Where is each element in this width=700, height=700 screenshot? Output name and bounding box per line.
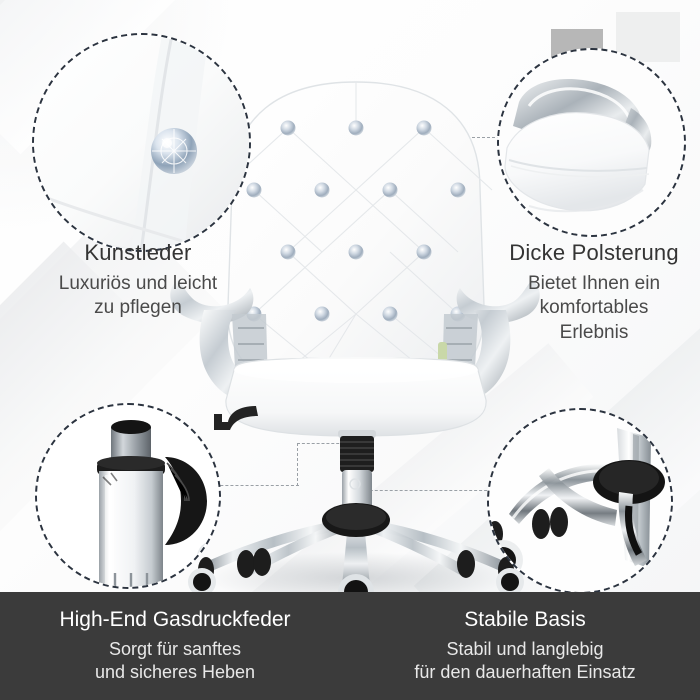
feature-subtitle-line1: Sorgt für sanftes [109, 639, 241, 659]
feature-subtitle-line1: Bietet Ihnen ein [528, 273, 660, 294]
feature-heading-stabile-basis: Stabile Basis [350, 607, 700, 632]
feature-subtitle-line2: zu pflegen [94, 297, 182, 318]
detail-circle-dicke-polsterung [497, 48, 686, 237]
gas-cylinder-closeup [37, 405, 219, 587]
feature-text-dicke-polsterung: Dicke Polsterung Bietet Ihnen ein komfor… [488, 239, 700, 346]
feature-subtitle-stabile-basis: Stabil und langlebig für den dauerhaften… [350, 638, 700, 683]
feature-heading-dicke-polsterung: Dicke Polsterung [488, 239, 700, 267]
feature-text-kunstleder: Kunstleder Luxuriös und leicht zu pflege… [8, 239, 268, 321]
feature-subtitle-line2: komfortables [540, 297, 649, 318]
feature-subtitle-dicke-polsterung: Bietet Ihnen ein komfortables Erlebnis [488, 272, 700, 346]
feature-text-stabile-basis: Stabile Basis Stabil und langlebig für d… [350, 592, 700, 700]
feature-subtitle-line2: für den dauerhaften Einsatz [414, 662, 635, 682]
feature-subtitle-line2: und sicheres Heben [95, 662, 255, 682]
feature-text-gasdruckfeder: High-End Gasdruckfeder Sorgt für sanftes… [0, 592, 350, 700]
detail-circle-gasdruckfeder [35, 403, 221, 589]
detail-circle-kunstleder [32, 33, 251, 252]
feature-subtitle-line1: Luxuriös und leicht [59, 273, 217, 294]
feature-subtitle-line1: Stabil und langlebig [446, 639, 603, 659]
feature-subtitle-gasdruckfeder: Sorgt für sanftes und sicheres Heben [0, 638, 350, 683]
feature-subtitle-line3: Erlebnis [560, 322, 629, 343]
feature-heading-kunstleder: Kunstleder [8, 239, 268, 267]
infographic-canvas: Kunstleder Luxuriös und leicht zu pflege… [0, 0, 700, 700]
chrome-base-casters-closeup [489, 410, 671, 592]
bottom-feature-bar: High-End Gasdruckfeder Sorgt für sanftes… [0, 592, 700, 700]
thick-cushion-closeup [499, 50, 684, 235]
feature-subtitle-kunstleder: Luxuriös und leicht zu pflegen [8, 272, 268, 321]
feature-heading-gasdruckfeder: High-End Gasdruckfeder [0, 607, 350, 632]
detail-circle-stabile-basis [487, 408, 673, 594]
leather-tufting-closeup [34, 35, 249, 250]
